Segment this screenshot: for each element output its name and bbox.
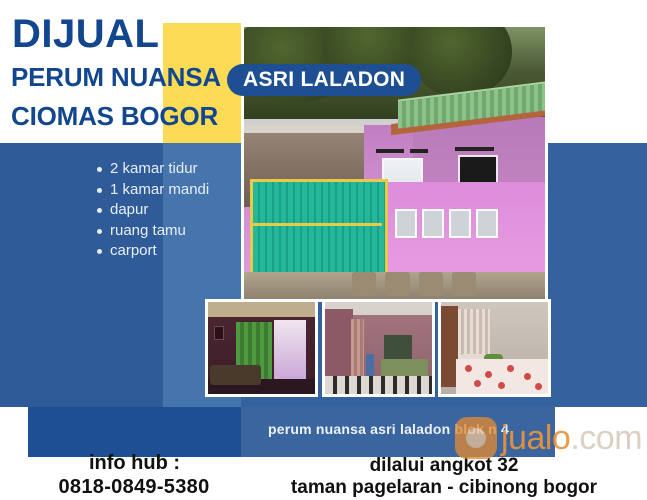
list-item: carport — [95, 241, 209, 262]
gate-rail — [250, 223, 382, 226]
small-window — [449, 209, 471, 237]
rubble-stone — [385, 272, 409, 296]
carport-edge — [244, 125, 364, 133]
wall-vent — [455, 147, 494, 151]
doorway — [274, 320, 306, 381]
advertisement-flyer: DIJUAL PERUM NUANSA CIOMAS BOGOR — [0, 0, 647, 500]
list-item: dapur — [95, 200, 209, 221]
tiled-floor — [325, 376, 432, 394]
small-window — [395, 209, 417, 237]
floral-pattern-dot — [507, 365, 514, 372]
water-container — [366, 354, 375, 376]
list-item: ruang tamu — [95, 221, 209, 242]
rubble-stone — [452, 272, 476, 296]
rubble-stone — [352, 272, 376, 296]
floral-pattern-dot — [465, 365, 472, 372]
contact-bar-block — [28, 407, 241, 457]
floral-pattern-dot — [485, 371, 492, 378]
floral-pattern-dot — [474, 380, 481, 387]
curtain — [351, 319, 364, 376]
wall-vent — [376, 149, 403, 153]
page-title: DIJUAL — [12, 14, 159, 54]
wall-vent — [410, 149, 428, 153]
jualo-logo-icon — [455, 417, 497, 459]
small-window — [422, 209, 444, 237]
contact-label: info hub : — [28, 452, 241, 475]
feature-list: 2 kamar tidur 1 kamar mandi dapur ruang … — [95, 159, 209, 262]
ceiling — [208, 302, 315, 317]
subtitle-line-1: PERUM NUANSA — [11, 64, 221, 90]
watermark-text: jualo.com — [501, 421, 642, 455]
status-badge: ASRI LALADON — [227, 64, 421, 96]
jualo-watermark: jualo.com — [455, 416, 642, 460]
counter — [381, 359, 428, 376]
floral-pattern-dot — [524, 373, 531, 380]
watermark-brand: jualo — [501, 419, 570, 457]
phone-number: 0818-0849-5380 — [16, 476, 252, 499]
living-room-thumbnail — [205, 299, 318, 397]
hallway-kitchen-thumbnail — [322, 299, 435, 397]
floral-pattern-dot — [498, 382, 505, 389]
mattress — [456, 359, 548, 394]
subtitle-line-2: CIOMAS BOGOR — [11, 103, 218, 129]
sofa — [210, 365, 261, 385]
list-item: 2 kamar tidur — [95, 159, 209, 180]
list-item: 1 kamar mandi — [95, 180, 209, 201]
location-info: taman pagelaran - cibinong bogor — [241, 477, 647, 499]
floral-pattern-dot — [535, 383, 542, 390]
bedroom-thumbnail — [438, 299, 551, 397]
rubble-stone — [419, 272, 443, 296]
wall-frame — [214, 326, 223, 340]
green-sliding-gate — [250, 179, 388, 283]
small-window — [476, 209, 498, 237]
side-wall — [325, 309, 353, 383]
watermark-tld: .com — [570, 419, 642, 457]
